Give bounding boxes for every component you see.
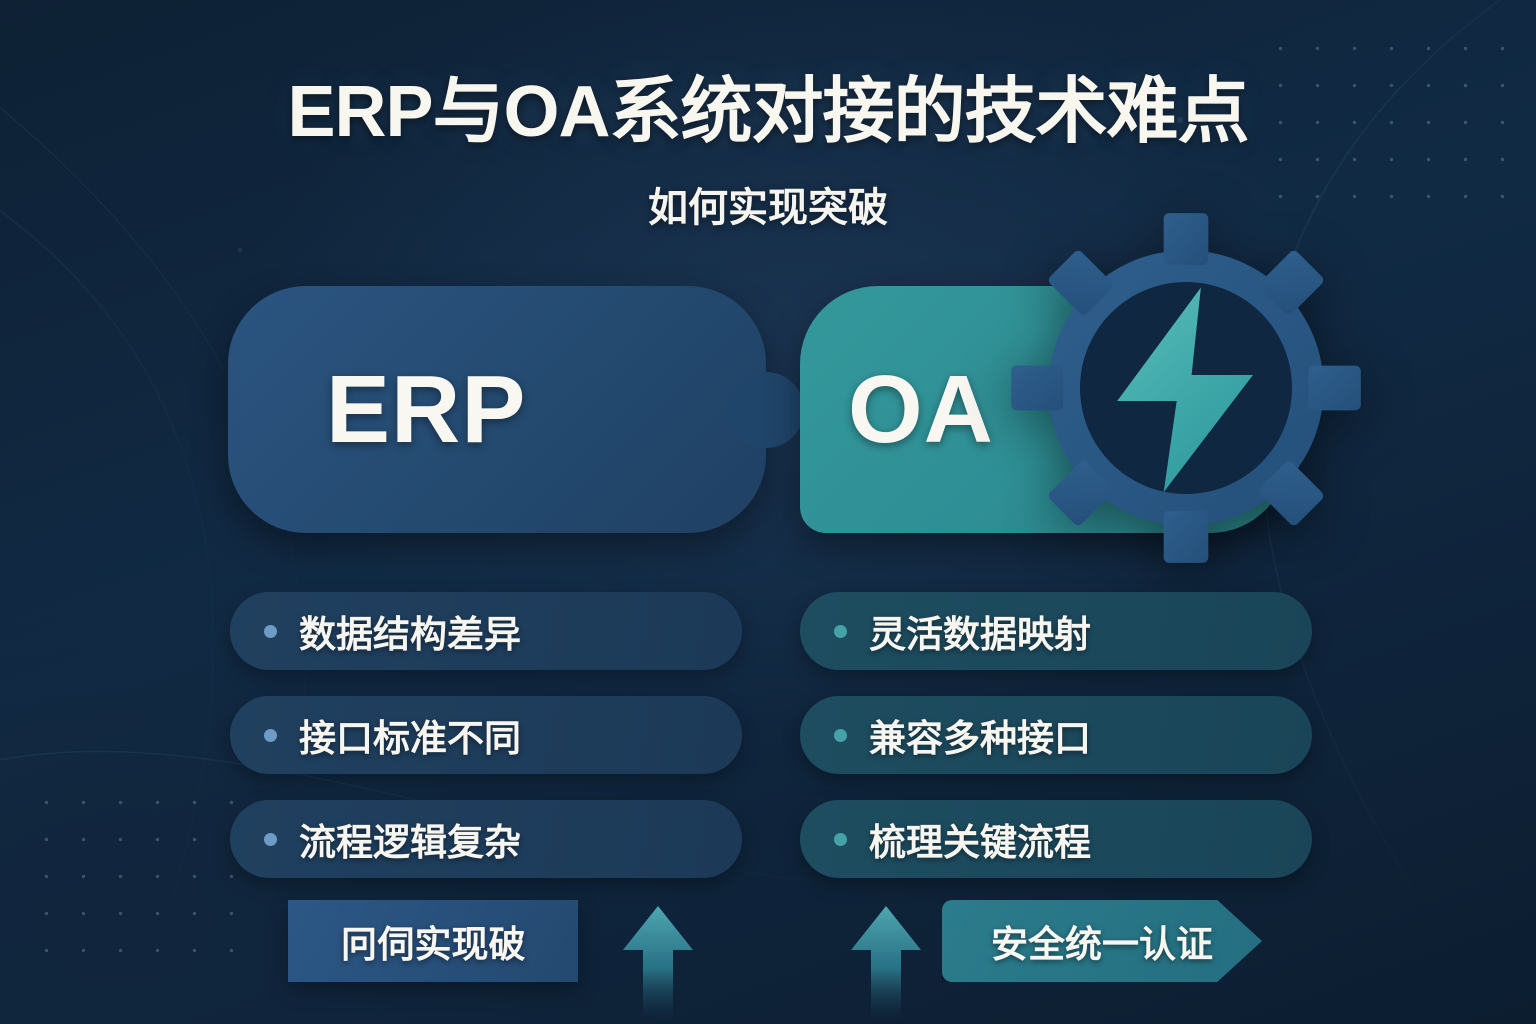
list-item-label: 灵活数据映射 [869,604,1091,658]
gear-icon [1000,202,1372,574]
bullet-dot-icon [264,833,277,846]
system-card-erp[interactable]: ERP [228,286,766,533]
list-item-label: 接口标准不同 [299,708,521,762]
list-item[interactable]: 接口标准不同 [230,696,742,774]
list-item-label: 梳理关键流程 [869,812,1091,866]
footer-banner-right[interactable]: 安全统一认证 [942,900,1262,982]
page-title: ERP与OA系统对接的技术难点 [0,52,1536,157]
bullet-dot-icon [264,625,277,638]
bullet-dot-icon [834,625,847,638]
list-item[interactable]: 梳理关键流程 [800,800,1312,878]
infographic-canvas: ERP与OA系统对接的技术难点 如何实现突破 ERP OA [0,0,1536,1024]
system-card-erp-label: ERP [326,355,526,465]
footer-banner-left[interactable]: 冋伺实现破 [288,900,578,982]
footer-banner-left-label: 冋伺实现破 [341,914,526,968]
list-item-label: 流程逻辑复杂 [299,812,521,866]
challenges-column: 数据结构差异 接口标准不同 流程逻辑复杂 [230,592,742,904]
system-card-oa-label: OA [848,355,994,465]
bullet-dot-icon [264,729,277,742]
bullet-dot-icon [834,833,847,846]
list-item[interactable]: 数据结构差异 [230,592,742,670]
list-item[interactable]: 灵活数据映射 [800,592,1312,670]
list-item-label: 数据结构差异 [299,604,521,658]
list-item[interactable]: 兼容多种接口 [800,696,1312,774]
list-item[interactable]: 流程逻辑复杂 [230,800,742,878]
solutions-column: 灵活数据映射 兼容多种接口 梳理关键流程 [800,592,1312,904]
up-arrow-icon [620,902,696,1022]
bullet-dot-icon [834,729,847,742]
list-item-label: 兼容多种接口 [869,708,1091,762]
up-arrow-icon [848,902,924,1022]
footer-banner-right-label: 安全统一认证 [991,914,1213,968]
footer-banners: 冋伺实现破 安全统一认证 [0,900,1536,1024]
